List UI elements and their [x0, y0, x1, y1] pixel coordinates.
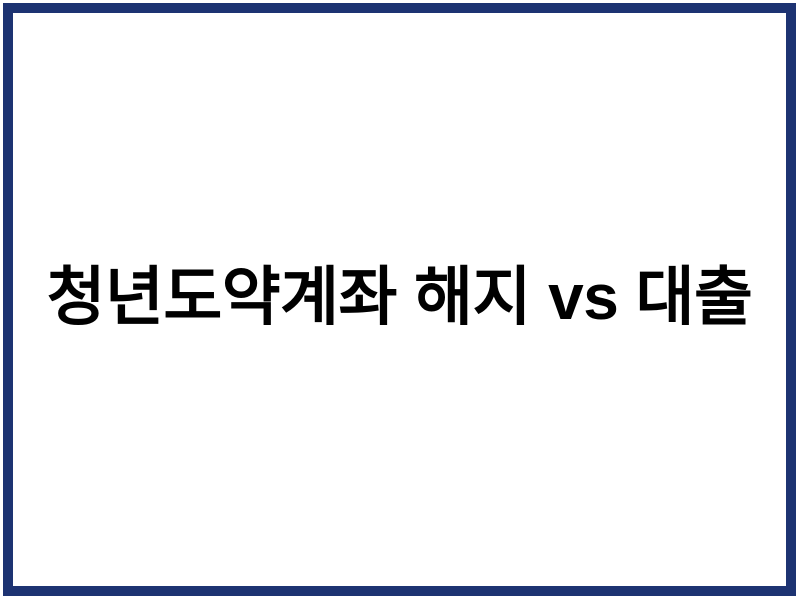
title-card: 청년도약계좌 해지 vs 대출: [0, 0, 800, 600]
title-block: 청년도약계좌 해지 vs 대출: [13, 262, 786, 334]
card-border-frame: 청년도약계좌 해지 vs 대출: [3, 3, 796, 596]
page-title: 청년도약계좌 해지 vs 대출: [37, 262, 762, 334]
title-stage: 청년도약계좌 해지 vs 대출: [13, 13, 786, 586]
